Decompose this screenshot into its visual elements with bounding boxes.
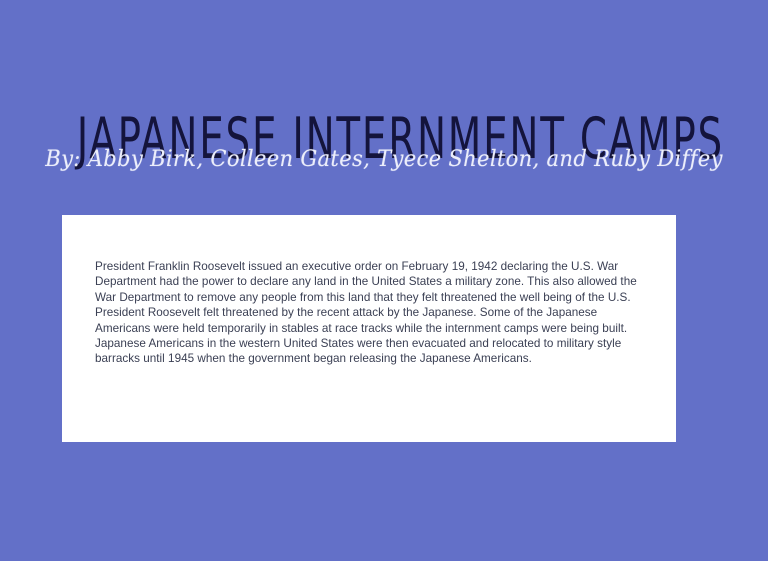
presentation-slide: Japanese Internment Camps By: Abby Birk,… bbox=[0, 0, 768, 561]
body-paragraph: President Franklin Roosevelt issued an e… bbox=[95, 259, 647, 367]
body-text-card: President Franklin Roosevelt issued an e… bbox=[62, 215, 676, 442]
slide-subtitle-authors: By: Abby Birk, Colleen Gates, Tyece Shel… bbox=[15, 145, 752, 175]
